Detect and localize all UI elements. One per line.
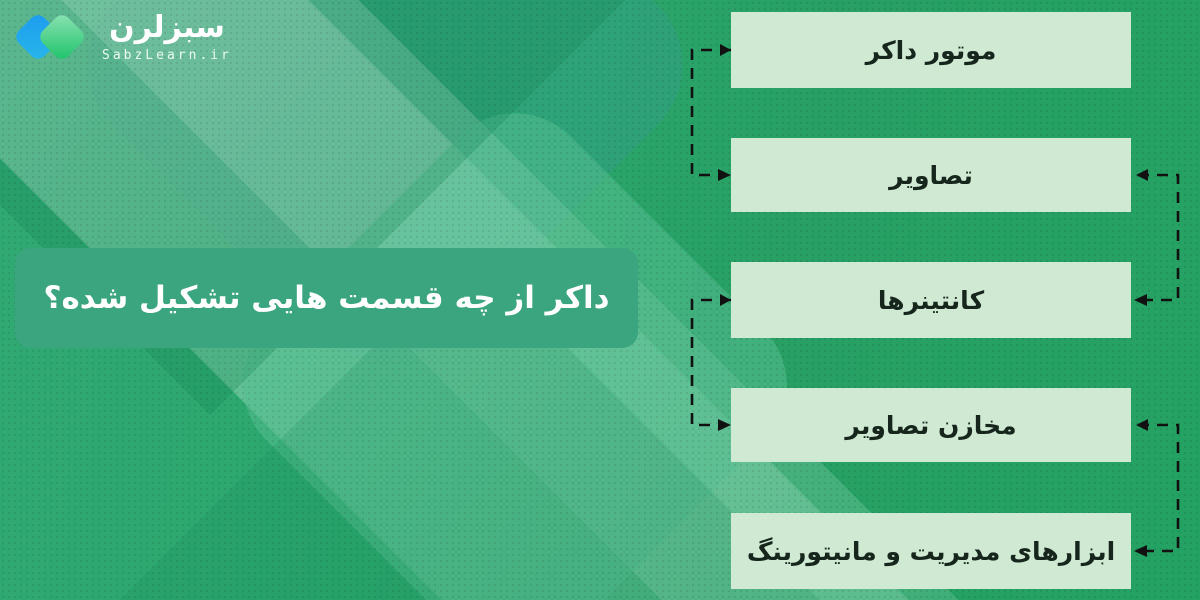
headline-banner: داکر از چه قسمت هایی تشکیل شده؟ <box>15 248 638 348</box>
node-label: مخازن تصاویر <box>845 411 1016 440</box>
node-containers[interactable]: کانتینرها <box>731 262 1131 338</box>
node-image-registries[interactable]: مخازن تصاویر <box>731 388 1131 462</box>
node-label: تصاویر <box>889 161 973 190</box>
poster-canvas: سبزلرن SabzLearn.ir داکر از چه قسمت هایی… <box>0 0 1200 600</box>
sabzlearn-diamond-logo-icon <box>14 6 92 68</box>
node-images[interactable]: تصاویر <box>731 138 1131 212</box>
node-docker-engine[interactable]: موتور داکر <box>731 12 1131 88</box>
node-management-monitoring-tools[interactable]: ابزارهای مدیریت و مانیتورینگ <box>731 513 1131 589</box>
node-label: موتور داکر <box>866 36 997 65</box>
brand-logo-text: سبزلرن SabzLearn.ir <box>102 13 232 62</box>
brand-name-en: SabzLearn.ir <box>102 49 232 62</box>
brand-name-fa: سبزلرن <box>109 13 225 43</box>
brand-logo[interactable]: سبزلرن SabzLearn.ir <box>14 6 232 68</box>
node-label: ابزارهای مدیریت و مانیتورینگ <box>747 537 1115 566</box>
node-label: کانتینرها <box>878 286 984 315</box>
page-title: داکر از چه قسمت هایی تشکیل شده؟ <box>44 280 610 316</box>
